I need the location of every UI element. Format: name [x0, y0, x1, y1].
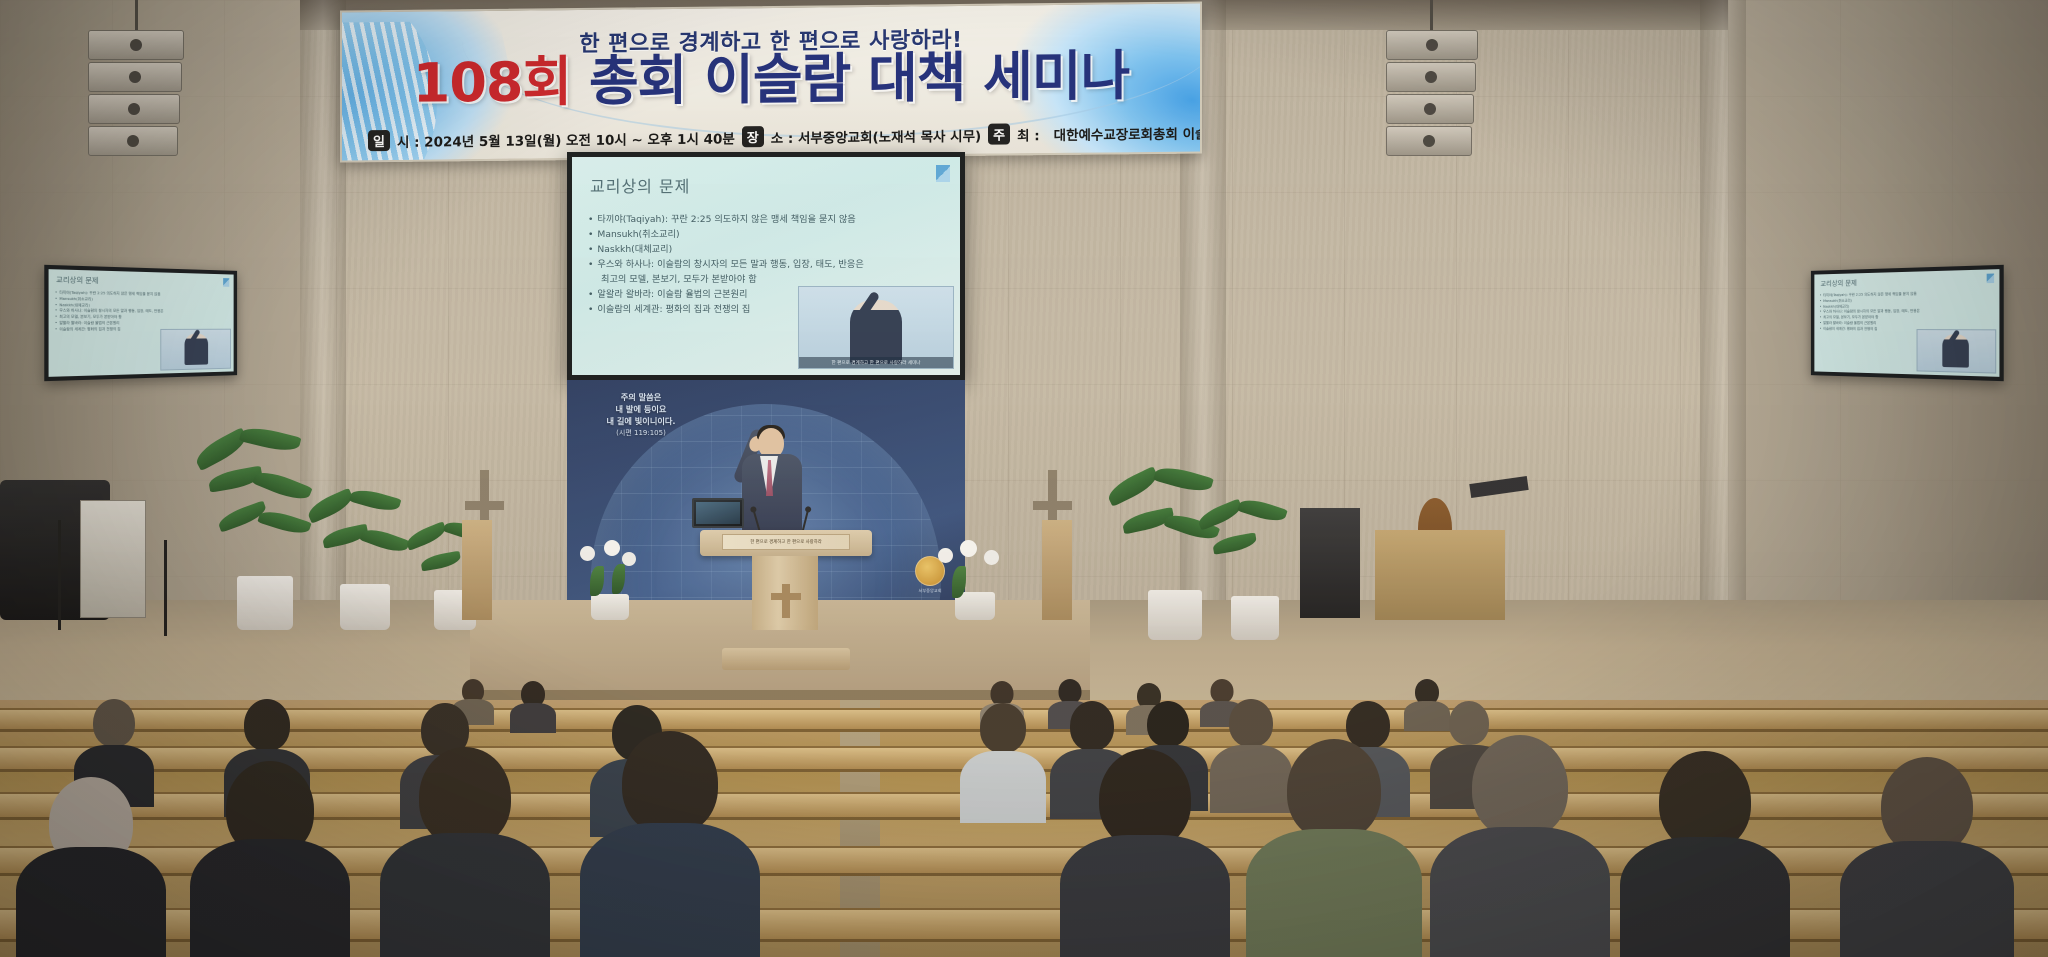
congregant-head: [244, 699, 290, 751]
side-pip-speaker-arm: [1946, 329, 1960, 347]
side-slide-bullets: 타끼야(Taqiyah): 꾸란 2:25 의도하지 않은 맹세 책임을 묻지 …: [1820, 290, 1996, 332]
side-picture-in-picture: [1917, 329, 1997, 374]
wooden-chair-right: [1042, 520, 1072, 620]
laptop-screen-glow: [696, 502, 740, 524]
side-slide-logo-icon: [1987, 274, 1994, 284]
pulpit-cross-icon: [782, 584, 790, 618]
side-table: [1375, 530, 1505, 620]
plant-leaf: [420, 551, 462, 572]
slide-bullet: Naskkh(대체교리): [588, 243, 950, 257]
slide-picture-in-picture: 한 편으로 경계하고 한 편으로 사랑하라 세미나: [798, 286, 954, 369]
banner-host-label: 최 :: [1017, 124, 1040, 144]
congregant-foreground: [1246, 739, 1422, 957]
plant-pot: [237, 576, 293, 630]
congregant-foreground: [580, 731, 760, 957]
slide-bullet: 우스와 하사나: 이슬람의 창시자의 모든 말과 행동, 입장, 태도, 반응은: [588, 258, 950, 272]
congregant-shoulders: [1246, 829, 1422, 957]
left-side-monitor-screen: 교리상의 문제 타끼야(Taqiyah): 꾸란 2:25 의도하지 않은 맹세…: [49, 269, 234, 377]
main-projection-screen-frame: 교리상의 문제 타끼야(Taqiyah): 꾸란 2:25 의도하지 않은 맹세…: [567, 152, 965, 380]
verse-line-1: 주의 말씀은: [581, 392, 701, 404]
speaker-cabinet: [1386, 126, 1472, 156]
side-picture-in-picture: [160, 329, 231, 371]
side-pip-speaker-figure: [185, 334, 209, 365]
speaker-cabinet-floor-right: [1300, 508, 1360, 618]
congregant-head: [1472, 735, 1568, 839]
congregant-shoulders: [1430, 827, 1610, 957]
pip-caption: 한 편으로 경계하고 한 편으로 사랑하라 세미나: [799, 357, 953, 368]
pulpit-top: 한 편으로 경계하고 한 편으로 사랑하라: [700, 530, 872, 556]
slide-bullet: Mansukh(취소교리): [588, 228, 950, 242]
flower-bloom: [938, 548, 953, 563]
congregant-head: [1659, 751, 1751, 851]
congregant-foreground: [16, 777, 166, 957]
congregant-head: [419, 747, 511, 847]
speaker-cabinet: [1386, 62, 1476, 92]
slide-logo-icon: [936, 165, 950, 182]
wooden-chair-left: [462, 520, 492, 620]
microphone-stand-left: [58, 520, 61, 630]
speaker-cabinet: [88, 126, 178, 156]
speaker-cabinet: [88, 62, 182, 92]
banner-title: 108회 총회 이슬람 대책 세미나: [342, 48, 1200, 112]
congregant-head: [1070, 701, 1114, 751]
speaker-cabinet: [1386, 94, 1474, 124]
congregant-head: [1287, 739, 1381, 841]
speaker-array-left: [88, 30, 184, 156]
speaker-hanger-rod-left: [135, 0, 138, 34]
congregant-shoulders: [580, 823, 760, 957]
congregant-foreground: [380, 747, 550, 957]
flower-bloom: [580, 546, 595, 561]
date-tag-badge: 일: [368, 130, 390, 151]
flower-arrangement-left: [570, 540, 650, 620]
congregant-shoulders: [1060, 835, 1230, 957]
side-slide-bullets: 타끼야(Taqiyah): 꾸란 2:25 의도하지 않은 맹세 책임을 묻지 …: [55, 290, 230, 332]
host-tag-badge: 주: [988, 123, 1010, 144]
main-projection-screen: 교리상의 문제 타끼야(Taqiyah): 꾸란 2:25 의도하지 않은 맹세…: [572, 157, 960, 375]
congregant-shoulders: [380, 833, 550, 957]
congregant-foreground: [190, 761, 350, 957]
side-pip-speaker-figure: [1942, 334, 1969, 367]
flower-arrangement-right: [930, 540, 1020, 620]
congregant-shoulders: [16, 847, 166, 957]
verse-line-3: 내 길에 빛이니이다.: [581, 416, 701, 428]
congregant-foreground: [1430, 735, 1610, 957]
verse-line-2: 내 발에 등이요: [581, 404, 701, 416]
pulpit-laptop: [692, 498, 748, 532]
plant-pot: [340, 584, 390, 630]
verse-reference: (시편 119:105): [581, 428, 701, 438]
congregant-shoulders: [510, 703, 556, 733]
pip-speaker-figure: [850, 300, 902, 364]
banner-place-text: 소 : 서부중앙교회(노재석 목사 시무): [771, 124, 981, 146]
slide-bullet: 타끼야(Taqiyah): 꾸란 2:25 의도하지 않은 맹세 책임을 묻지 …: [588, 213, 950, 227]
congregant-head: [622, 731, 718, 835]
scripture-verse: 주의 말씀은 내 발에 등이요 내 길에 빛이니이다. (시편 119:105): [581, 392, 701, 438]
speaker-cabinet-floor-left: [80, 500, 146, 618]
seminar-photo-scene: 한 편으로 경계하고 한 편으로 사랑하라! 108회 총회 이슬람 대책 세미…: [0, 0, 2048, 957]
right-side-monitor-screen: 교리상의 문제 타끼야(Taqiyah): 꾸란 2:25 의도하지 않은 맹세…: [1814, 269, 1999, 377]
wall-pilaster: [1700, 0, 1746, 640]
plant-leaf: [1196, 499, 1245, 531]
flower-pot: [591, 594, 629, 620]
congregant-head: [980, 703, 1026, 753]
seminar-banner: 한 편으로 경계하고 한 편으로 사랑하라! 108회 총회 이슬람 대책 세미…: [340, 1, 1202, 162]
congregant-shoulders: [190, 839, 350, 957]
pip-speaker-arm: [853, 291, 881, 326]
pulpit-front-label: 한 편으로 경계하고 한 편으로 사랑하라: [722, 534, 850, 550]
side-slide-title: 교리상의 문제: [56, 275, 98, 286]
pulpit-base: [722, 648, 850, 670]
banner-date-text: 시 : 2024년 5월 13일(월) 오전 10시 ~ 오후 1시 40분: [397, 127, 735, 151]
flower-foliage: [612, 564, 625, 594]
congregant-shoulders: [1620, 837, 1790, 957]
laptop-screen: [692, 498, 744, 528]
congregant-foreground: [1060, 749, 1230, 957]
flower-bloom: [984, 550, 999, 565]
plant-leaf: [1212, 532, 1258, 554]
plant-leaf: [404, 521, 449, 551]
speaker-cabinet: [88, 30, 184, 60]
congregant-head: [1099, 749, 1191, 849]
plant-leaf: [349, 486, 401, 515]
potted-plant: [400, 520, 510, 630]
side-slide-title: 교리상의 문제: [1820, 278, 1856, 288]
banner-host-name: 대한예수교장로회총회 이슬람대책위원회: [1054, 121, 1202, 143]
congregant-shoulders: [960, 751, 1046, 823]
congregant-head: [1147, 701, 1189, 747]
plant-leaf: [1237, 495, 1288, 525]
banner-title-text: 총회 이슬람 대책 세미나: [589, 44, 1129, 113]
flower-bloom: [604, 540, 620, 556]
congregant-foreground: [1620, 751, 1790, 957]
congregant-shoulders: [1840, 841, 2014, 957]
plant-pot: [1231, 596, 1279, 640]
place-tag-badge: 장: [742, 126, 764, 147]
pulpit: 한 편으로 경계하고 한 편으로 사랑하라: [700, 530, 872, 670]
speaker-cabinet: [88, 94, 180, 124]
congregant: [960, 703, 1046, 823]
speaker-array-right: [1386, 30, 1478, 156]
side-slide-logo-icon: [223, 278, 229, 287]
plant-leaf: [1104, 466, 1161, 507]
speaker-cabinet: [1386, 30, 1478, 60]
slide-bullet-continuation: 최고의 모델, 본보기, 모두가 본받아야 함: [588, 273, 950, 287]
congregant-foreground: [1840, 757, 2014, 957]
flower-bloom: [960, 540, 977, 557]
left-side-monitor: 교리상의 문제 타끼야(Taqiyah): 꾸란 2:25 의도하지 않은 맹세…: [44, 265, 237, 381]
right-side-monitor: 교리상의 문제 타끼야(Taqiyah): 꾸란 2:25 의도하지 않은 맹세…: [1811, 265, 2004, 381]
speaker-hanger-rod-right: [1430, 0, 1433, 34]
slide-title: 교리상의 문제: [590, 173, 690, 197]
microphone-stand-left-2: [164, 540, 167, 636]
congregant: [510, 681, 556, 733]
plant-leaf: [305, 488, 356, 524]
banner-title-number: 108회: [413, 50, 571, 115]
flower-foliage: [590, 566, 604, 596]
congregant-head: [93, 699, 135, 747]
side-pip-speaker-arm: [188, 329, 201, 346]
